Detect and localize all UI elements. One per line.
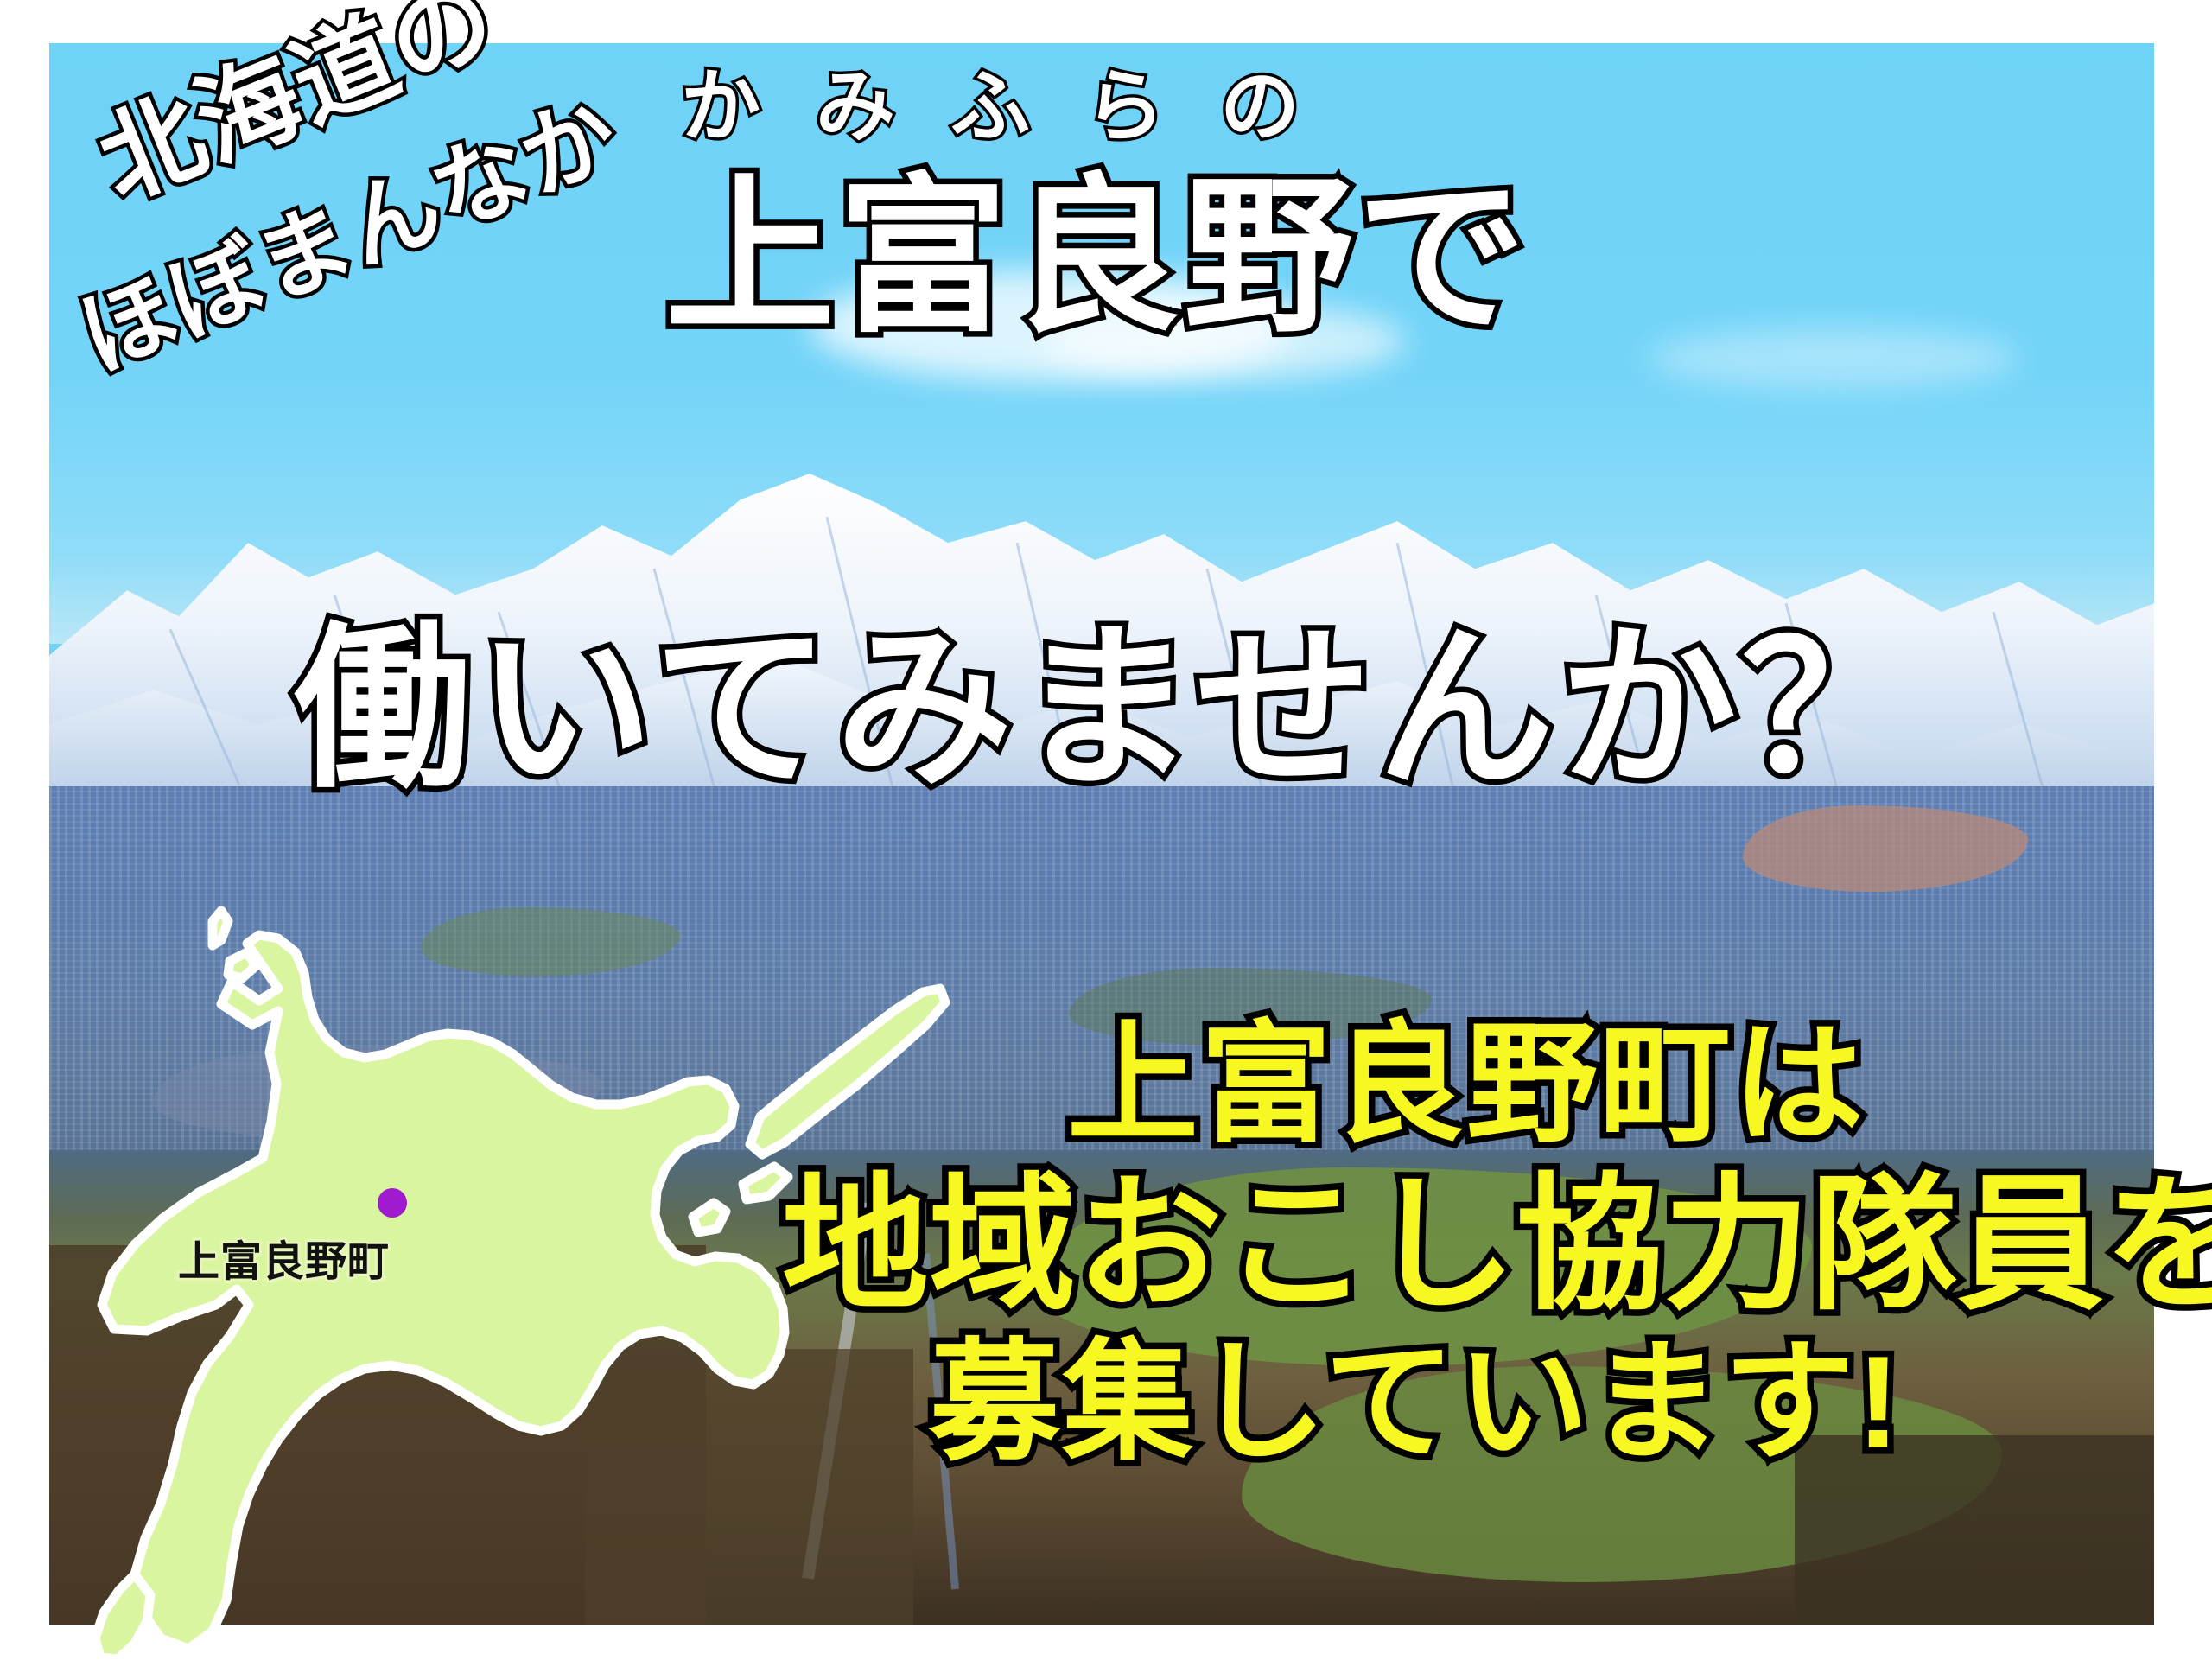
subtitle-text: 働いてみませんか？ xyxy=(294,620,1924,798)
tagline-block: 北海道の ほぼまんなか xyxy=(67,67,707,448)
cta-line-3: 募集しています! xyxy=(929,1336,2164,1470)
main-title-kanji: 上富良野で xyxy=(665,173,1529,363)
kamifurano-marker-label: 上富良野町 xyxy=(178,1227,390,1288)
cloud-wisp-icon xyxy=(1648,328,2019,389)
cta-line-1: 上富良野町は xyxy=(1067,1018,2164,1152)
kunashiri-islet xyxy=(743,1167,788,1199)
rebun-island xyxy=(213,911,228,945)
rishiri-island xyxy=(228,952,256,978)
main-title-block: かみふらの 上富良野で xyxy=(665,67,1529,363)
kamifurano-marker-dot xyxy=(378,1188,407,1218)
poster-canvas: 北海道の ほぼまんなか かみふらの 上富良野で 働いてみませんか？ 上富良野町は… xyxy=(0,0,2212,1660)
hokkaido-main-island xyxy=(102,935,785,1649)
main-title-ruby: かみふらの xyxy=(665,67,1529,164)
shiretoko-peninsula xyxy=(750,989,945,1154)
nemuro-islet xyxy=(693,1203,726,1232)
hokkaido-south-tail xyxy=(95,1574,150,1659)
